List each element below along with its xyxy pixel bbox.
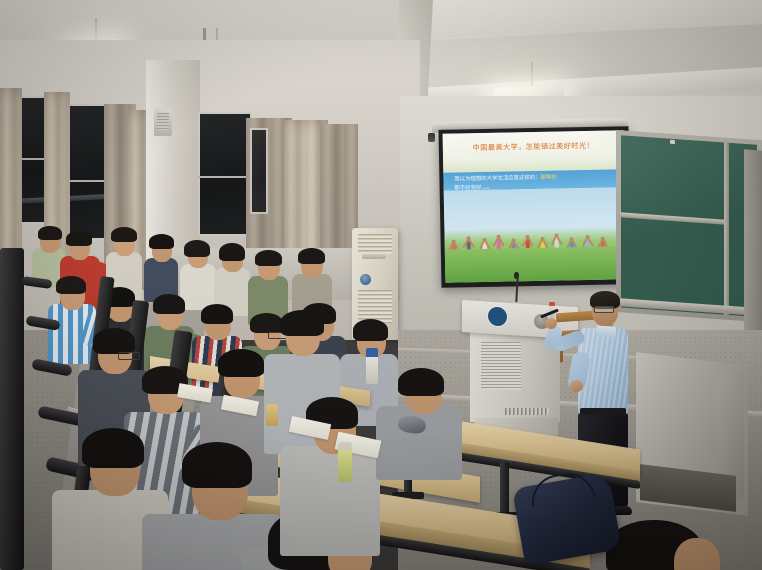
green-bottle[interactable] [338, 448, 352, 482]
blackboard [616, 130, 762, 322]
chair-column [0, 248, 24, 570]
microphone-icon [514, 272, 519, 279]
slide-subtitle-line1: 我以为理想的大学生活应是这样的： [454, 175, 540, 183]
slide-subtitle-line2: 那不好完好。。。 [454, 184, 492, 191]
blackboard-divider [724, 143, 729, 315]
bottle-cap [366, 348, 378, 357]
ac-top-vent [358, 234, 392, 254]
eyeglasses-icon [118, 352, 140, 360]
ac-control-panel[interactable] [362, 254, 386, 259]
projection-screen[interactable]: 中国最美大学，怎能错过美好时光！ 我以为理想的大学生活应是这样的：那样的 那不好… [439, 126, 632, 288]
slide-grass [445, 246, 627, 283]
blackboard-right-frame [744, 149, 762, 341]
desk-leg [500, 462, 509, 514]
bottle-cap [549, 302, 555, 306]
window-mullion [198, 176, 252, 178]
window [250, 128, 268, 214]
university-crest-icon [487, 305, 508, 327]
wall-speaker-grill-icon [157, 113, 169, 130]
blackboard-clip [670, 140, 675, 144]
screen-surface: 中国最美大学，怎能错过美好时光！ 我以为理想的大学生活应是这样的：那样的 那不好… [443, 130, 627, 282]
ac-brand-badge-icon [360, 274, 371, 285]
eyeglasses-icon [594, 306, 614, 313]
bottle-cap [338, 442, 352, 450]
camera-icon [428, 133, 435, 142]
slide-photo-area [444, 187, 627, 283]
blackboard-surface [621, 135, 757, 317]
drink-can[interactable] [266, 404, 278, 426]
window [198, 112, 252, 236]
podium-vent [505, 408, 549, 415]
water-bottle[interactable] [366, 356, 378, 384]
presenter-hand [570, 380, 583, 392]
slide-subtitle-highlight: 那样的 [541, 175, 557, 181]
presenter-collar [596, 325, 617, 337]
slide-subtitle-text: 我以为理想的大学生活应是这样的：那样的 那不好完好。。。 [454, 173, 614, 192]
presenter-belt [580, 408, 626, 415]
lecture-hall-photo: 中国最美大学，怎能错过美好时光！ 我以为理想的大学生活应是这样的：那样的 那不好… [0, 0, 762, 570]
curtain [0, 88, 22, 274]
presenter-hand [545, 318, 557, 329]
podium-speaker-grill-icon [481, 342, 521, 390]
